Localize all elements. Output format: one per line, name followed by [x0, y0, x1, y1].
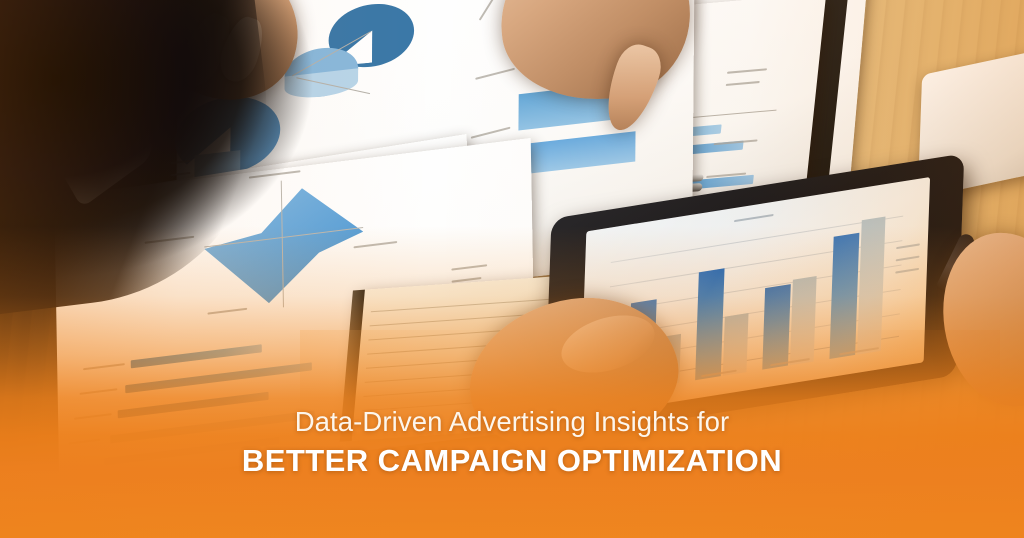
chart-legend-entry — [726, 81, 760, 86]
chart-legend-entry — [896, 256, 920, 262]
corner-vignette — [0, 0, 380, 320]
chart-legend-entry — [895, 268, 919, 274]
chart-legend-entry — [896, 243, 920, 249]
bar-item — [790, 276, 817, 365]
chart-legend-entry — [451, 264, 487, 270]
bar-item — [131, 344, 262, 368]
bar-item — [829, 233, 859, 359]
bar-item — [118, 392, 269, 419]
chart-gridline — [611, 216, 903, 263]
bar-item — [695, 268, 724, 380]
chart-category-label — [83, 363, 125, 370]
bar-item — [762, 284, 791, 370]
chart-legend-entry — [727, 68, 767, 74]
bar-item — [857, 216, 885, 354]
banner-image: Data-Driven Advertising Insights for BET… — [0, 0, 1024, 538]
chart-category-label — [74, 413, 112, 420]
bar-item — [723, 313, 749, 376]
chart-axis-label — [479, 0, 501, 21]
bar-item — [105, 437, 280, 465]
chart-axis-label — [475, 68, 515, 80]
chart-axis-label — [471, 127, 511, 139]
chart-title — [734, 214, 774, 222]
chart-category-label — [68, 439, 100, 445]
bar-item — [125, 362, 312, 393]
chart-category-label — [80, 388, 118, 395]
